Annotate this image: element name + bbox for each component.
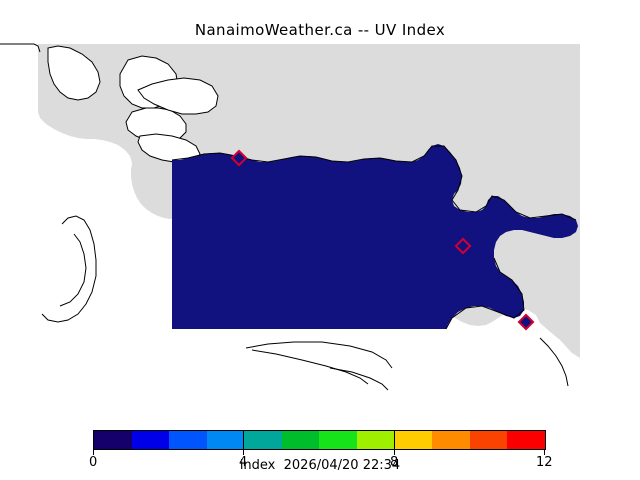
colorbar-gradient-strip[interactable]	[93, 430, 546, 450]
colorbar-segment-8-9	[395, 431, 433, 449]
coastline-strip-lower-2	[252, 350, 368, 384]
colorbar-segment-5-6	[282, 431, 320, 449]
colorbar-segment-9-10	[432, 431, 470, 449]
colorbar-segment-1-2	[132, 431, 170, 449]
page-title: NanaimoWeather.ca -- UV Index	[0, 21, 640, 39]
colorbar-legend: 0 4 8 12	[93, 430, 546, 450]
coastline-west-edge	[0, 44, 40, 52]
colorbar-segment-2-3	[169, 431, 207, 449]
colorbar-segment-4-5	[244, 431, 282, 449]
marker-diamond-icon	[519, 315, 533, 329]
colorbar-segment-7-8	[357, 431, 395, 449]
colorbar-divider-4	[243, 430, 244, 450]
colorbar-segment-10-11	[470, 431, 508, 449]
colorbar-divider-8	[394, 430, 395, 450]
colorbar-segment-6-7	[319, 431, 357, 449]
coastline-lower-right	[540, 338, 568, 386]
colorbar-segment-0-1	[94, 431, 132, 449]
station-marker-3[interactable]	[519, 315, 533, 329]
coastline-island-outline-left-inner	[60, 234, 86, 306]
colorbar-caption: index 2026/04/20 22:34	[0, 458, 640, 473]
coastline-island-outline-left	[42, 216, 96, 322]
map-plot-area	[0, 38, 640, 410]
colorbar-segment-11-12	[507, 431, 545, 449]
map-graphic	[0, 38, 640, 410]
coastline-strip-lower-3	[330, 368, 388, 390]
colorbar-segment-3-4	[207, 431, 245, 449]
